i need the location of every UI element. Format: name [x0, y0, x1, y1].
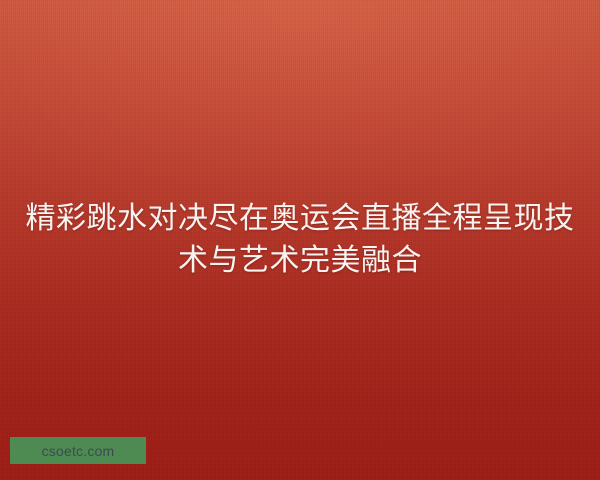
watermark-label: csoetc.com — [42, 444, 115, 458]
banner-image: 精彩跳水对决尽在奥运会直播全程呈现技术与艺术完美融合 csoetc.com — [0, 0, 600, 480]
headline-text: 精彩跳水对决尽在奥运会直播全程呈现技术与艺术完美融合 — [0, 198, 600, 282]
watermark-badge: csoetc.com — [10, 437, 146, 464]
